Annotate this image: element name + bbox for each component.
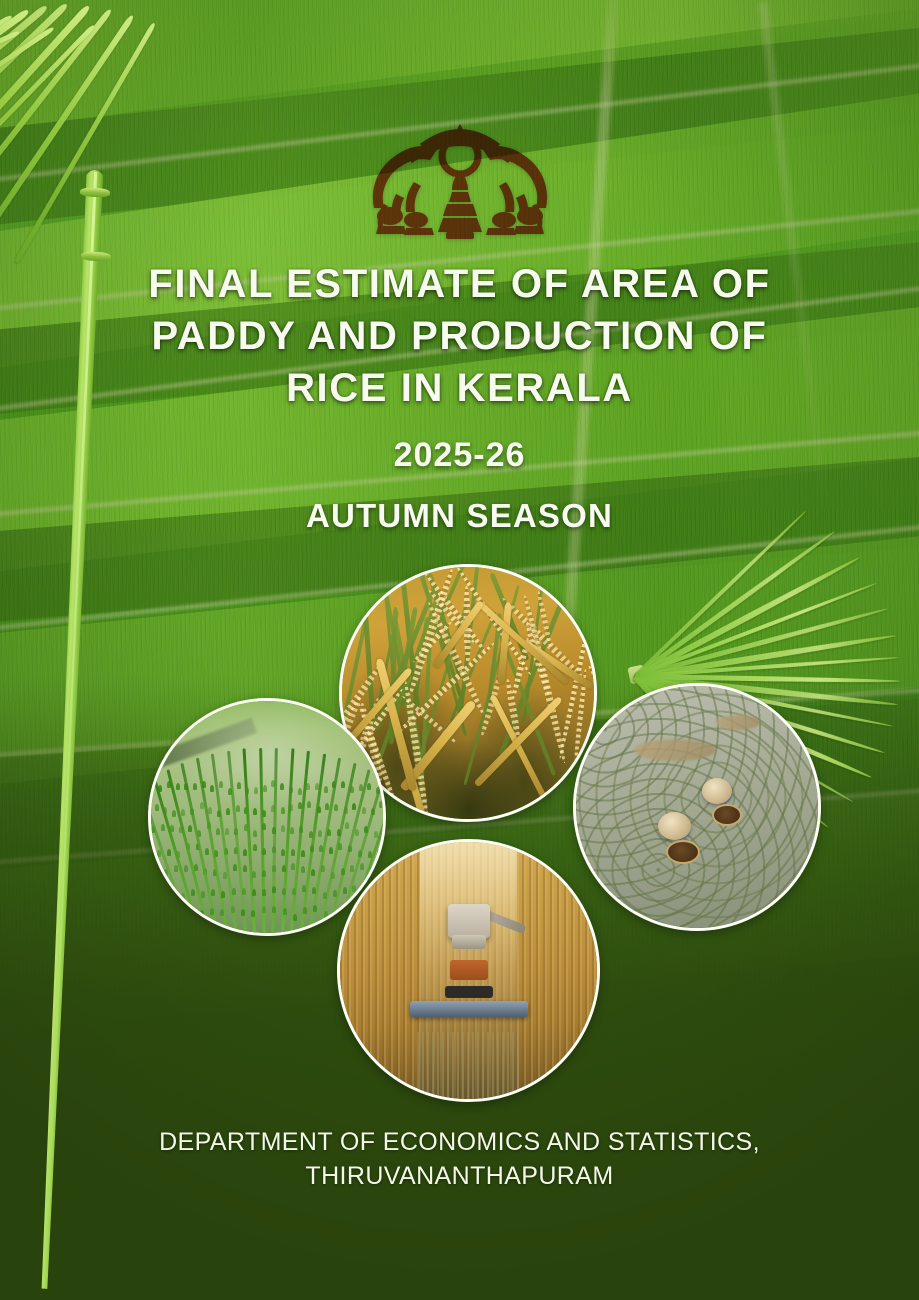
report-season: AUTUMN SEASON bbox=[0, 497, 919, 535]
page-title: FINAL ESTIMATE OF AREA OF PADDY AND PROD… bbox=[0, 258, 919, 414]
document-cover: FINAL ESTIMATE OF AREA OF PADDY AND PROD… bbox=[0, 0, 919, 1300]
report-year: 2025-26 bbox=[0, 436, 919, 475]
cover-text: FINAL ESTIMATE OF AREA OF PADDY AND PROD… bbox=[0, 0, 919, 1300]
publisher-footer: DEPARTMENT OF ECONOMICS AND STATISTICS, … bbox=[0, 1126, 919, 1194]
